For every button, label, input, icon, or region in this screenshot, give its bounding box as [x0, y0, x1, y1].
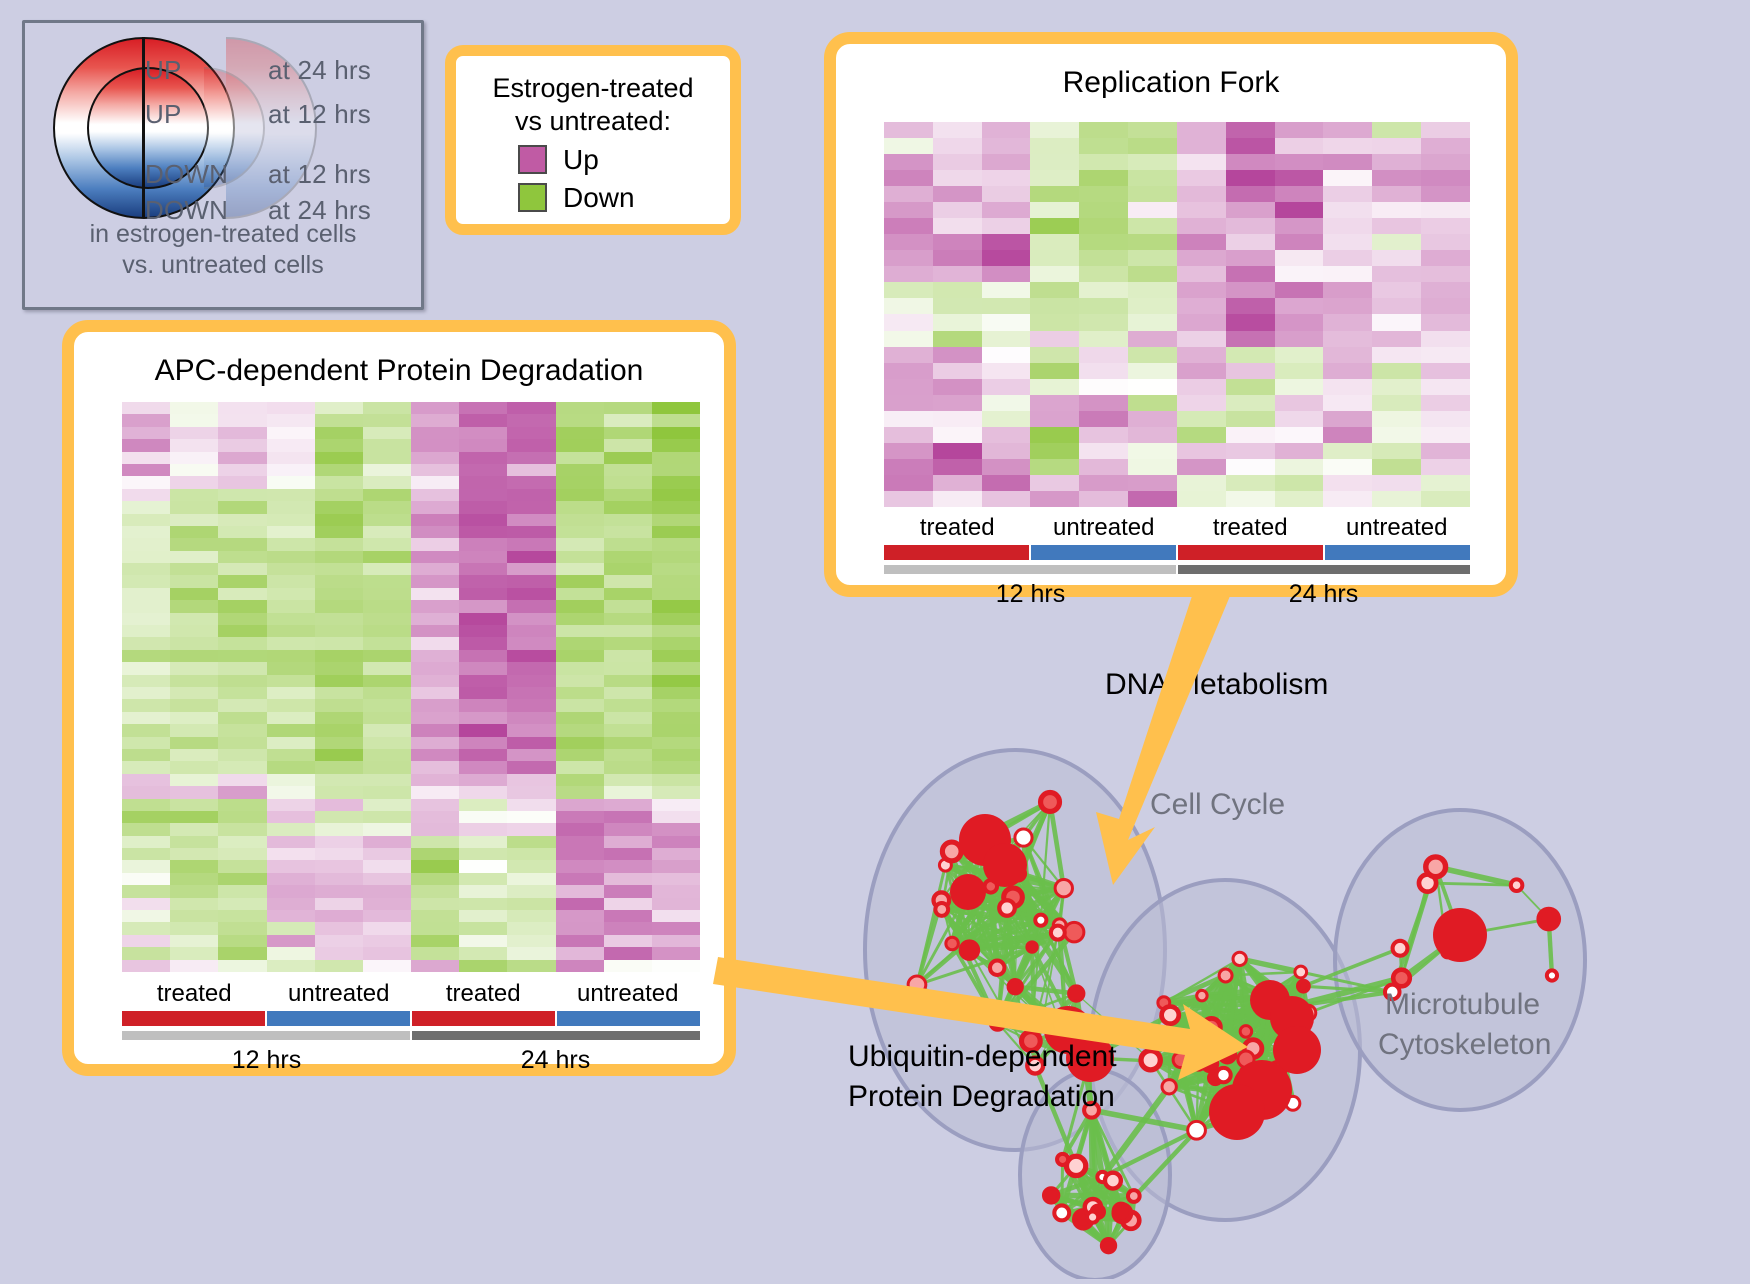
sample-group-bar [1178, 545, 1325, 560]
panel-apc: APC-dependent Protein Degradation treate… [62, 320, 736, 1076]
sample-group-label: untreated [267, 980, 412, 1008]
key-time-up-24: at 24 hrs [268, 55, 371, 86]
updown-legend-box: Estrogen-treated vs untreated: Up Down [445, 45, 741, 235]
key-value-down-12: DOWN [145, 159, 228, 190]
updown-legend-title-line2: vs untreated: [456, 105, 730, 138]
cluster-label-cell-cycle: Cell Cycle [1150, 788, 1285, 822]
up-label: Up [563, 144, 599, 176]
replication-fork-sample-annotation: treateduntreatedtreateduntreated 12 hrs2… [884, 514, 1470, 609]
time-group-bar [884, 565, 1178, 574]
cluster-label-cytoskeleton: Cytoskeleton [1378, 1028, 1551, 1062]
down-label: Down [563, 182, 635, 214]
key-time-down-12: at 12 hrs [268, 159, 371, 190]
cluster-label-ubiquitin-line2: Protein Degradation [848, 1080, 1115, 1114]
time-group-label: 12 hrs [884, 580, 1177, 609]
replication-fork-title: Replication Fork [836, 66, 1506, 100]
network-graph: DNA Metabolism Cell Cycle Microtubule Cy… [800, 620, 1750, 1279]
sample-label-row: treateduntreatedtreateduntreated [884, 514, 1470, 542]
cluster-label-ubiquitin-line1: Ubiquitin-dependent [848, 1040, 1117, 1074]
sample-group-bar [1031, 545, 1178, 560]
sample-group-label: treated [411, 980, 556, 1008]
updown-legend-title-line1: Estrogen-treated [456, 72, 730, 105]
updown-legend-title: Estrogen-treated vs untreated: [456, 72, 730, 138]
sample-group-bar [412, 1011, 557, 1026]
time-label-row: 12 hrs24 hrs [122, 1046, 700, 1075]
time-bar-row [122, 1031, 700, 1040]
color-key-rings: UP at 24 hrs UP at 12 hrs DOWN at 12 hrs… [25, 23, 421, 213]
down-swatch-icon [518, 183, 547, 212]
sample-label-row: treateduntreatedtreateduntreated [122, 980, 700, 1008]
legend-row-up: Up [518, 144, 730, 176]
panel-replication-fork: Replication Fork treateduntreatedtreated… [824, 32, 1518, 597]
key-value-up-12: UP [145, 99, 182, 130]
time-group-bar [1178, 565, 1470, 574]
sample-bar-row [122, 1011, 700, 1026]
replication-fork-heatmap [884, 122, 1470, 507]
apc-heatmap [122, 402, 700, 972]
sample-group-label: treated [884, 514, 1031, 542]
sample-bar-row [884, 545, 1470, 560]
legend-row-down: Down [518, 182, 730, 214]
network-svg [800, 620, 1750, 1279]
sample-group-label: treated [1177, 514, 1324, 542]
color-key-box: UP at 24 hrs UP at 12 hrs DOWN at 12 hrs… [22, 20, 424, 310]
sample-group-bar [557, 1011, 700, 1026]
time-label-row: 12 hrs24 hrs [884, 580, 1470, 609]
time-group-label: 24 hrs [1177, 580, 1470, 609]
color-key-caption: in estrogen-treated cells vs. untreated … [25, 219, 421, 280]
sample-group-bar [1325, 545, 1470, 560]
cluster-label-microtubule: Microtubule [1385, 988, 1540, 1022]
key-value-up-24: UP [145, 55, 182, 86]
time-bar-row [884, 565, 1470, 574]
sample-group-bar [267, 1011, 412, 1026]
up-swatch-icon [518, 145, 547, 174]
figure-root: UP at 24 hrs UP at 12 hrs DOWN at 12 hrs… [0, 0, 1750, 1279]
sample-group-label: untreated [1324, 514, 1471, 542]
apc-title: APC-dependent Protein Degradation [74, 354, 724, 388]
time-group-label: 24 hrs [411, 1046, 700, 1075]
sample-group-bar [122, 1011, 267, 1026]
sample-group-label: treated [122, 980, 267, 1008]
sample-group-bar [884, 545, 1031, 560]
time-group-bar [412, 1031, 700, 1040]
key-time-up-12: at 12 hrs [268, 99, 371, 130]
time-group-bar [122, 1031, 412, 1040]
color-key-caption-line2: vs. untreated cells [25, 250, 421, 281]
time-group-label: 12 hrs [122, 1046, 411, 1075]
sample-group-label: untreated [556, 980, 701, 1008]
apc-sample-annotation: treateduntreatedtreateduntreated 12 hrs2… [122, 980, 700, 1075]
sample-group-label: untreated [1031, 514, 1178, 542]
color-key-caption-line1: in estrogen-treated cells [25, 219, 421, 250]
cluster-label-dna-metabolism: DNA Metabolism [1105, 668, 1328, 702]
